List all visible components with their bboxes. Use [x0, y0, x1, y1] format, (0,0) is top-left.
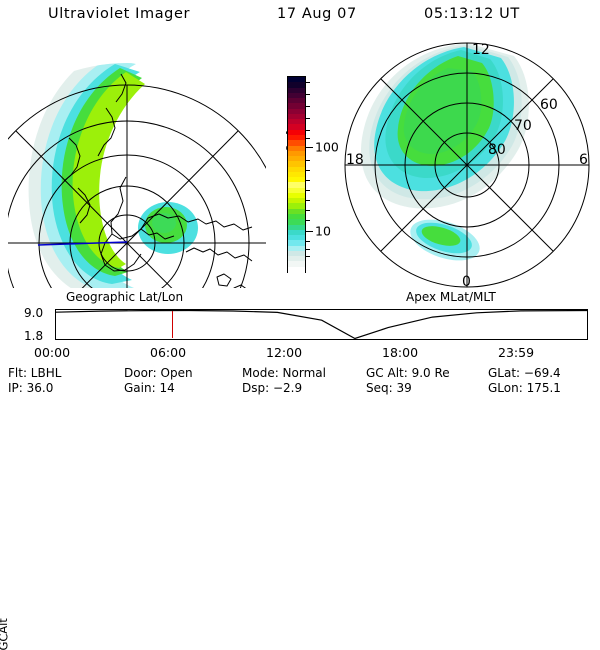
geographic-plot-canvas [8, 38, 266, 288]
status-glat: GLat: −69.4 [488, 366, 561, 380]
mlat-label-70: 70 [514, 118, 532, 134]
colorbar-tick-minor [306, 220, 310, 221]
altitude-xtick-0: 00:00 [34, 345, 70, 360]
colorbar-tick-minor [306, 170, 310, 171]
status-glon: GLon: 175.1 [488, 381, 561, 395]
altitude-ytick-max: 9.0 [24, 306, 43, 320]
header-bar: Ultraviolet Imager 17 Aug 07 05:13:12 UT [0, 6, 600, 32]
mlt-label-0: 0 [462, 274, 471, 290]
mlt-label-6: 6 [579, 152, 588, 168]
altitude-xtick-2: 12:00 [266, 345, 302, 360]
apex-plot-canvas: 12 18 6 0 60 70 80 [336, 38, 598, 294]
status-footer: Flt: LBHL Door: Open Mode: Normal GC Alt… [0, 366, 600, 398]
status-gain: Gain: 14 [124, 381, 175, 395]
colorbar-tick-minor [306, 106, 310, 107]
colorbar-tick-major [306, 231, 313, 232]
apex-plot[interactable]: 12 18 6 0 60 70 80 [336, 38, 598, 294]
colorbar-tick-minor [306, 160, 310, 161]
altitude-xtick-3: 18:00 [382, 345, 418, 360]
altitude-plot-box [55, 309, 588, 340]
altitude-ylabel-alt: Alt [0, 618, 10, 634]
colorbar-tick-minor [306, 180, 310, 181]
instrument-title: Ultraviolet Imager [48, 6, 190, 22]
colorbar-tick-minor [306, 138, 310, 139]
status-filter: Flt: LBHL [8, 366, 61, 380]
geographic-plot-caption: Geographic Lat/Lon [66, 290, 183, 304]
status-mode: Mode: Normal [242, 366, 326, 380]
colorbar-tick-minor [306, 190, 310, 191]
mlt-label-12: 12 [472, 42, 490, 58]
colorbar-gradient-strip [287, 76, 306, 273]
altitude-xtick-4: 23:59 [498, 345, 534, 360]
mlt-label-18: 18 [346, 152, 364, 168]
status-door: Door: Open [124, 366, 193, 380]
status-dsp: Dsp: −2.9 [242, 381, 302, 395]
altitude-curve-canvas [56, 310, 587, 339]
observation-time: 05:13:12 UT [424, 6, 520, 22]
colorbar-tick-major [306, 147, 313, 148]
colorbar-tick-minor [306, 200, 310, 201]
altitude-timeseries-panel[interactable]: GC Alt 9.0 1.8 00:00 06:00 12:00 18:00 2… [0, 303, 600, 351]
colorbar-tick-minor [306, 249, 310, 250]
mlat-label-60: 60 [540, 97, 558, 113]
status-seq: Seq: 39 [366, 381, 412, 395]
colorbar-tick-minor [306, 94, 310, 95]
uvi-display: Ultraviolet Imager 17 Aug 07 05:13:12 UT [0, 0, 600, 400]
colorbar-tick-marks [306, 76, 313, 273]
altitude-ytick-min: 1.8 [24, 329, 43, 343]
colorbar-tick-minor [306, 256, 310, 257]
apex-plot-caption: Apex MLat/MLT [406, 290, 496, 304]
colorbar-tick-minor [306, 82, 310, 83]
mlat-label-80: 80 [488, 142, 506, 158]
colorbar-tick-minor [306, 210, 310, 211]
status-gc-alt: GC Alt: 9.0 Re [366, 366, 450, 380]
observation-date: 17 Aug 07 [277, 6, 357, 22]
mlt-spokes [345, 43, 589, 287]
geographic-plot[interactable] [8, 38, 266, 288]
colorbar-segment [288, 267, 305, 273]
altitude-xtick-1: 06:00 [150, 345, 186, 360]
colorbar-label-10: 10 [315, 224, 331, 239]
altitude-ylabel-gc: GC [0, 634, 10, 650]
current-time-marker [172, 311, 173, 338]
status-ip: IP: 36.0 [8, 381, 53, 395]
altitude-curve [56, 311, 587, 339]
colorbar-tick-minor [306, 118, 310, 119]
colorbar-tick-minor [306, 241, 310, 242]
colorbar-tick-minor [306, 130, 310, 131]
